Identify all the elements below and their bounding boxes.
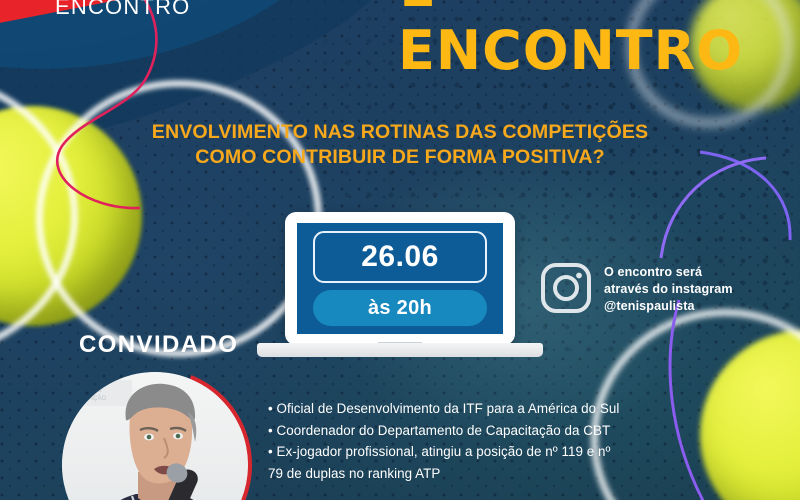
instagram-line-1: O encontro será	[604, 265, 702, 279]
purple-arc-stroke	[661, 158, 766, 258]
event-poster: ENCONTRO 1º ENCONTRO ENVOLVIMENTO NAS RO…	[0, 0, 800, 500]
poster-top-title: 1º ENCONTRO	[398, 0, 800, 82]
headline-line-2: COMO CONTRIBUIR DE FORMA POSITIVA?	[0, 145, 800, 170]
list-item: • Oficial de Desenvolvimento da ITF para…	[268, 398, 698, 420]
headline-line-1: ENVOLVIMENTO NAS ROTINAS DAS COMPETIÇÕES	[152, 121, 648, 143]
list-item: • Ex-jogador profissional, atingiu a pos…	[268, 441, 698, 463]
instagram-icon	[540, 262, 592, 314]
tennis-ball-right-icon	[700, 330, 800, 500]
guest-label: CONVIDADO	[79, 331, 238, 359]
page-title: ENVOLVIMENTO NAS ROTINAS DAS COMPETIÇÕES…	[0, 120, 800, 170]
instagram-block[interactable]: O encontro será através do instagram @te…	[540, 262, 733, 315]
laptop-body: 26.06 às 20h	[285, 212, 515, 345]
guest-photo: MENTO CITAÇÃO	[62, 372, 248, 500]
list-item: • Coordenador do Departamento de Capacit…	[268, 420, 698, 442]
guest-bio-list: • Oficial de Desenvolvimento da ITF para…	[268, 398, 698, 484]
event-time: às 20h	[313, 290, 487, 326]
laptop-base	[257, 343, 543, 357]
laptop-screen: 26.06 às 20h	[297, 223, 503, 334]
encontro-label: ENCONTRO	[55, 0, 191, 20]
instagram-line-2: através do instagram	[604, 282, 733, 296]
instagram-text: O encontro será através do instagram @te…	[604, 262, 733, 315]
event-date: 26.06	[313, 231, 487, 283]
guest-avatar: MENTO CITAÇÃO	[62, 372, 248, 500]
laptop-graphic: 26.06 às 20h	[285, 212, 515, 360]
list-item-continuation: 79 de duplas no ranking ATP	[268, 463, 698, 485]
instagram-handle: @tenispaulista	[604, 299, 695, 313]
